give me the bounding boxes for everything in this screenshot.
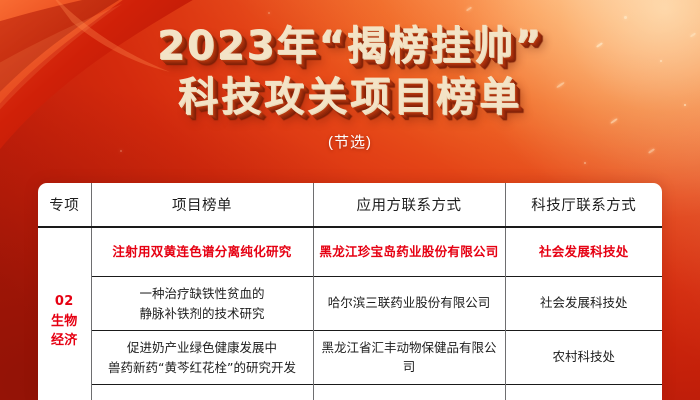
project-name-cell[interactable]: 促进奶产业绿色健康发展中 兽药新药“黄芩红花栓”的研究开发 (91, 331, 313, 385)
table-row[interactable]: 02 生物 经济 注射用双黄连色谱分离纯化研究 黑龙江珍宝岛药业股份有限公司 社… (38, 227, 662, 277)
table-body: 02 生物 经济 注射用双黄连色谱分离纯化研究 黑龙江珍宝岛药业股份有限公司 社… (38, 227, 662, 400)
project-name-cell[interactable]: 注射用双黄连色谱分离纯化研究 (91, 227, 313, 277)
applicant-contact-cell[interactable]: 黑龙江省汇丰动物保健品有限公司 (313, 331, 505, 385)
special-category-name-line-2: 经济 (42, 331, 87, 351)
project-name-cell[interactable] (91, 385, 313, 400)
table-row[interactable]: 促进奶产业绿色健康发展中 兽药新药“黄芩红花栓”的研究开发 黑龙江省汇丰动物保健… (38, 331, 662, 385)
table-header: 专项 项目榜单 应用方联系方式 科技厅联系方式 (38, 183, 662, 227)
column-header-project: 项目榜单 (91, 183, 313, 227)
poster-root: 2023年“揭榜挂帅” 科技攻关项目榜单 (节选) 专项 项目榜单 应用方联系方… (0, 0, 700, 400)
applicant-contact-cell[interactable]: 黑龙江珍宝岛药业股份有限公司 (313, 227, 505, 277)
listing-table-card: 专项 项目榜单 应用方联系方式 科技厅联系方式 02 生物 经济 注射用双黄连色… (38, 183, 662, 400)
project-listing-table: 专项 项目榜单 应用方联系方式 科技厅联系方式 02 生物 经济 注射用双黄连色… (38, 183, 662, 400)
poster-title-line-1: 2023年“揭榜挂帅” (0, 26, 700, 68)
poster-title-line-2: 科技攻关项目榜单 (0, 77, 700, 119)
table-row[interactable]: 一种治疗缺铁性贫血的 静脉补铁剂的技术研究 哈尔滨三联药业股份有限公司 社会发展… (38, 277, 662, 331)
column-header-department: 科技厅联系方式 (505, 183, 662, 227)
project-name-line-1: 促进奶产业绿色健康发展中 (96, 338, 309, 358)
table-row-partial[interactable] (38, 385, 662, 400)
column-header-applicant: 应用方联系方式 (313, 183, 505, 227)
department-contact-cell[interactable]: 社会发展科技处 (505, 277, 662, 331)
special-category-name-line-1: 生物 (42, 312, 87, 332)
project-name-line-1: 一种治疗缺铁性贫血的 (96, 284, 309, 304)
special-category-code: 02 (42, 292, 87, 312)
project-name-line-2: 兽药新药“黄芩红花栓”的研究开发 (96, 358, 309, 378)
applicant-contact-cell[interactable]: 哈尔滨三联药业股份有限公司 (313, 277, 505, 331)
poster-title-block: 2023年“揭榜挂帅” 科技攻关项目榜单 (节选) (0, 26, 700, 152)
department-contact-cell[interactable]: 社会发展科技处 (505, 227, 662, 277)
department-contact-cell[interactable]: 农村科技处 (505, 331, 662, 385)
applicant-contact-cell[interactable] (313, 385, 505, 400)
table-header-row: 专项 项目榜单 应用方联系方式 科技厅联系方式 (38, 183, 662, 227)
special-category-cell: 02 生物 经济 (38, 227, 91, 400)
poster-subtitle: (节选) (0, 131, 700, 152)
department-contact-cell[interactable] (505, 385, 662, 400)
project-name-cell[interactable]: 一种治疗缺铁性贫血的 静脉补铁剂的技术研究 (91, 277, 313, 331)
project-name-line-2: 静脉补铁剂的技术研究 (96, 304, 309, 324)
column-header-special: 专项 (38, 183, 91, 227)
project-name-line-1: 注射用双黄连色谱分离纯化研究 (96, 243, 309, 261)
